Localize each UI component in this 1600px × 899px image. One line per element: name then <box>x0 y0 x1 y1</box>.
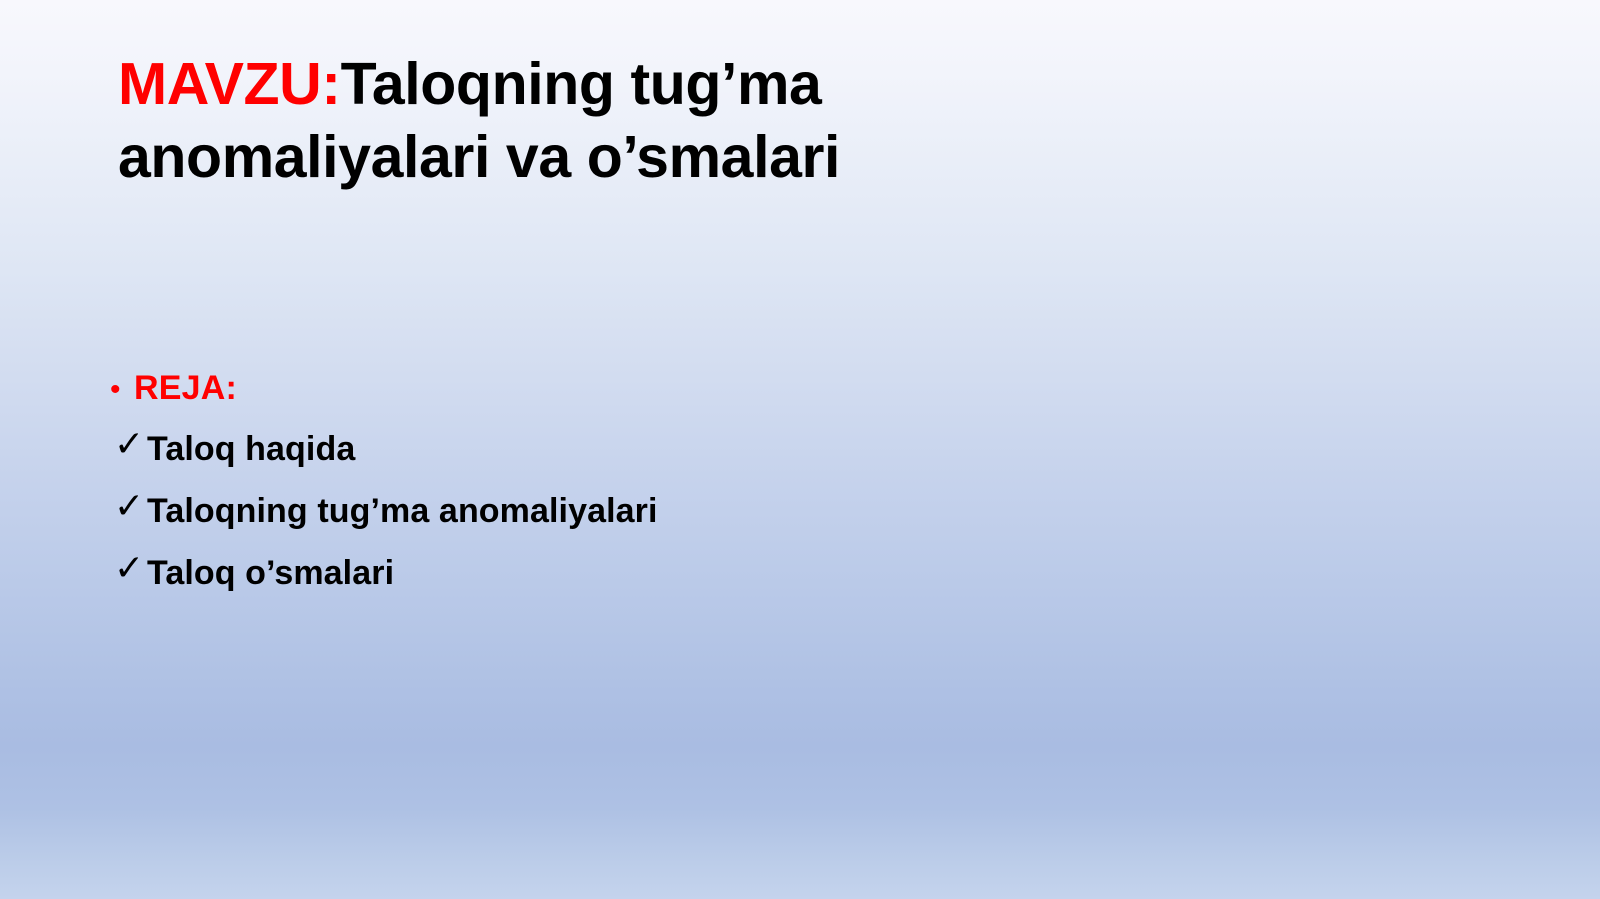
list-item: ✓ Taloq haqida <box>104 428 1304 470</box>
reja-heading-label: REJA: <box>134 368 237 408</box>
list-item-label: Taloq haqida <box>147 428 355 470</box>
checkmark-icon: ✓ <box>104 424 147 464</box>
round-bullet-icon: • <box>104 375 134 405</box>
list-item-label: Taloqning tug’ma anomaliyalari <box>147 490 658 532</box>
title-line-1-rest: Taloqning tug’ma <box>341 51 822 117</box>
checkmark-icon: ✓ <box>104 486 147 526</box>
checkmark-icon: ✓ <box>104 548 147 588</box>
slide-title: MAVZU:Taloqning tug’ma anomaliyalari va … <box>118 48 1298 194</box>
list-item: ✓ Taloq o’smalari <box>104 552 1304 594</box>
presentation-slide: MAVZU:Taloqning tug’ma anomaliyalari va … <box>0 0 1600 899</box>
list-item: ✓ Taloqning tug’ma anomaliyalari <box>104 490 1304 532</box>
title-line-2: anomaliyalari va o’smalari <box>118 121 1298 194</box>
slide-body: • REJA: ✓ Taloq haqida ✓ Taloqning tug’m… <box>104 368 1304 614</box>
title-line-1: MAVZU:Taloqning tug’ma <box>118 48 1298 121</box>
list-item-label: Taloq o’smalari <box>147 552 394 594</box>
reja-heading-row: • REJA: <box>104 368 1304 408</box>
title-prefix: MAVZU: <box>118 51 341 117</box>
